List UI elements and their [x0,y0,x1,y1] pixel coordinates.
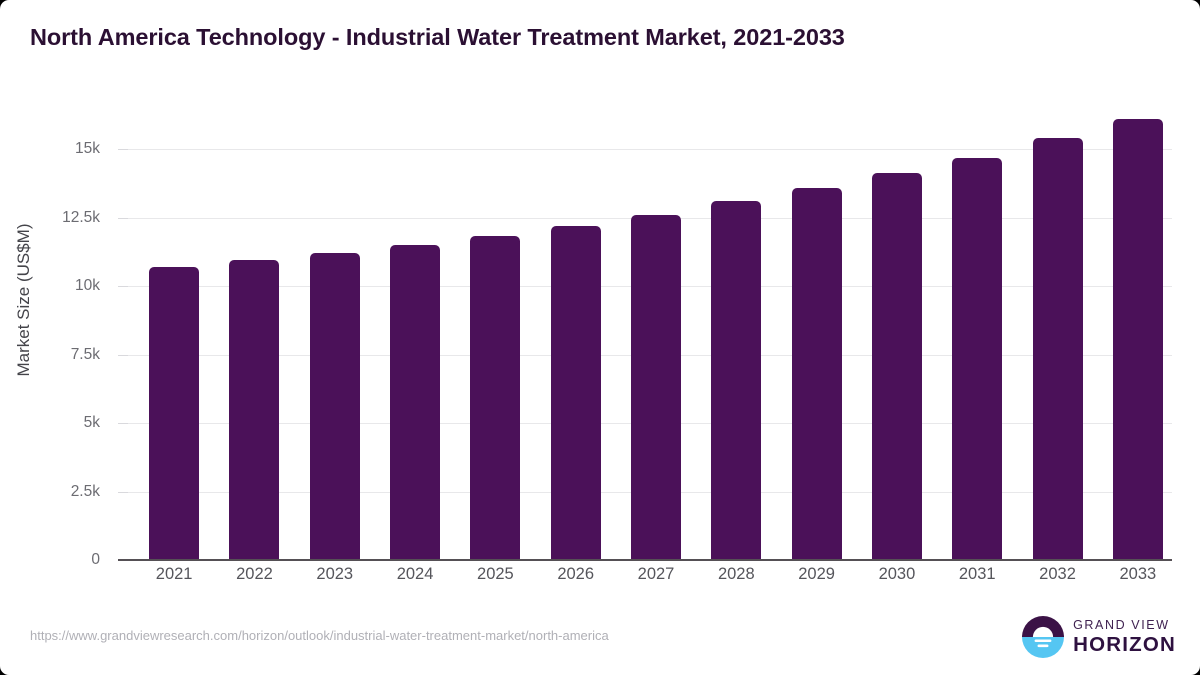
source-url[interactable]: https://www.grandviewresearch.com/horizo… [30,628,609,643]
x-axis-tick-label: 2021 [133,565,215,584]
y-axis-tick-label: 10k [75,277,100,295]
chart-canvas: North America Technology - Industrial Wa… [0,0,1200,675]
bar[interactable] [1113,119,1163,560]
x-axis-line [118,559,1172,561]
bar[interactable] [1033,138,1083,560]
bar[interactable] [952,158,1002,561]
y-axis-tick-mark [118,149,128,150]
x-axis-tick-label: 2026 [535,565,617,584]
logo-line-2: HORIZON [1073,635,1176,656]
y-axis-tick-label: 2.5k [71,483,100,501]
bar[interactable] [229,260,279,560]
x-axis-tick-label: 2022 [213,565,295,584]
y-axis-tick-mark [118,355,128,356]
y-axis-tick-label: 12.5k [62,209,100,227]
y-axis-tick-mark [118,423,128,424]
bar[interactable] [149,267,199,560]
y-axis-tick-label: 0 [91,551,100,569]
horizon-circle-icon [1022,616,1064,658]
y-axis-tick-mark [118,286,128,287]
y-axis-tick-mark [118,492,128,493]
gridline [128,149,1172,150]
bar[interactable] [792,188,842,560]
bar[interactable] [390,245,440,560]
y-axis-tick-mark [118,218,128,219]
y-axis-tick-label: 5k [84,414,100,432]
logo-text: GRAND VIEW HORIZON [1073,619,1176,655]
bar[interactable] [631,215,681,560]
page-title: North America Technology - Industrial Wa… [30,24,845,51]
y-axis-tick-label: 15k [75,140,100,158]
x-axis-tick-label: 2030 [856,565,938,584]
x-axis-tick-label: 2028 [695,565,777,584]
bar[interactable] [310,253,360,560]
x-axis-tick-label: 2025 [454,565,536,584]
grand-view-horizon-logo[interactable]: GRAND VIEW HORIZON [1022,616,1176,658]
x-axis-tick-label: 2024 [374,565,456,584]
bar[interactable] [551,226,601,560]
x-axis-tick-label: 2023 [294,565,376,584]
bar[interactable] [470,236,520,560]
logo-line-1: GRAND VIEW [1073,619,1176,632]
x-axis-tick-label: 2029 [776,565,858,584]
x-axis-tick-label: 2031 [936,565,1018,584]
y-axis-tick-label: 7.5k [71,346,100,364]
x-axis-tick-labels: 2021202220232024202520262027202820292030… [128,565,1172,595]
bar[interactable] [872,173,922,560]
plot-area [128,100,1172,560]
bar[interactable] [711,201,761,560]
x-axis-tick-label: 2032 [1017,565,1099,584]
x-axis-tick-label: 2033 [1097,565,1179,584]
x-axis-tick-label: 2027 [615,565,697,584]
y-axis-tick-labels: 02.5k5k7.5k10k12.5k15k [0,100,110,560]
